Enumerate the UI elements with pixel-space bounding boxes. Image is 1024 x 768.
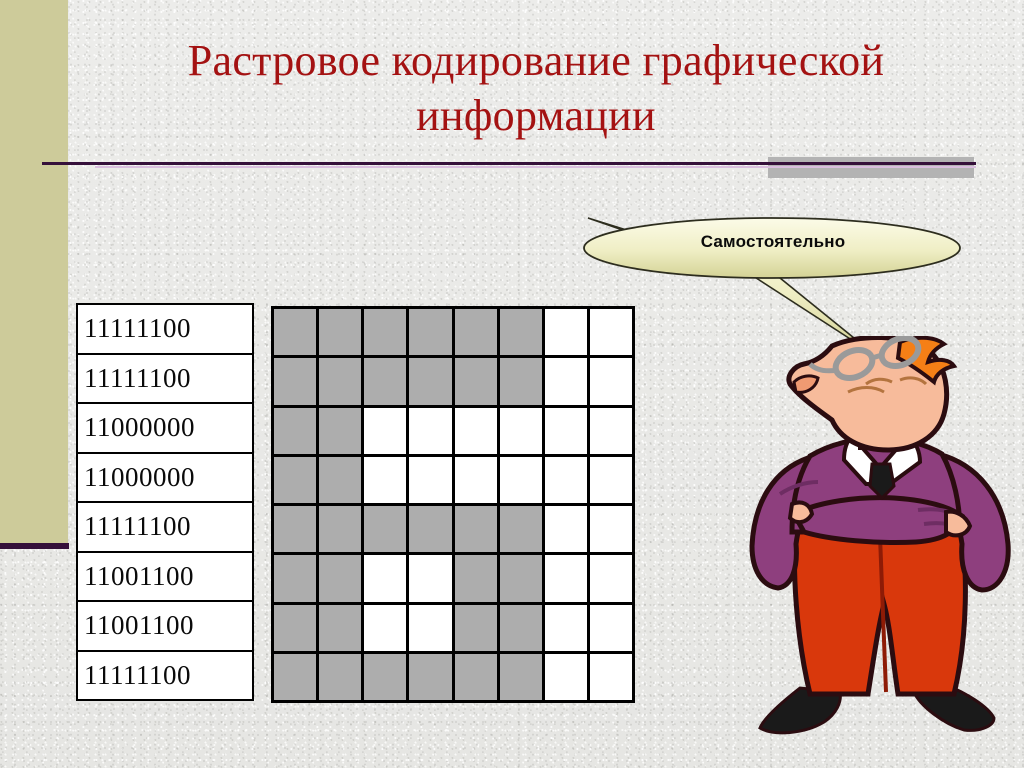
pixel-cell (590, 358, 632, 404)
table-row: 11000000 (78, 404, 252, 454)
pixel-cell (590, 605, 632, 651)
pixel-cell (500, 605, 542, 651)
crossed-arms (794, 498, 962, 543)
pixel-cell (319, 408, 361, 454)
pixel-cell (274, 555, 316, 601)
pixel-cell (274, 408, 316, 454)
binary-code-value: 11000000 (84, 412, 195, 443)
pixel-cell (545, 457, 587, 503)
pixel-cell (545, 358, 587, 404)
slide-canvas: Растровое кодирование графической информ… (0, 0, 1024, 768)
binary-code-value: 11111100 (84, 511, 191, 542)
pixel-cell (409, 555, 451, 601)
pixel-cell (409, 654, 451, 700)
table-row: 11001100 (78, 602, 252, 652)
pixel-cell (455, 309, 497, 355)
title-divider-rule (42, 162, 976, 165)
left-accent-band (0, 0, 68, 543)
table-row: 11111100 (78, 503, 252, 553)
pixel-cell (319, 309, 361, 355)
pixel-cell (545, 605, 587, 651)
pixel-cell (500, 358, 542, 404)
binary-code-value: 11000000 (84, 462, 195, 493)
binary-code-value: 11111100 (84, 313, 191, 344)
pixel-cell (500, 506, 542, 552)
binary-code-value: 11111100 (84, 363, 191, 394)
pixel-cell (500, 309, 542, 355)
pixel-cell (455, 555, 497, 601)
pixel-cell (274, 605, 316, 651)
pixel-cell (274, 358, 316, 404)
pixel-cell (274, 457, 316, 503)
pixel-cell (319, 654, 361, 700)
pixel-cell (364, 555, 406, 601)
title-divider-rule-light (95, 166, 976, 168)
balloon-label: Самостоятельно (588, 232, 958, 252)
pixel-cell (319, 605, 361, 651)
pixel-cell (590, 457, 632, 503)
pixel-cell (409, 358, 451, 404)
pixel-cell (364, 506, 406, 552)
pixel-cell (545, 506, 587, 552)
shoes (760, 686, 994, 733)
pixel-cell (409, 309, 451, 355)
pixel-cell (590, 555, 632, 601)
cartoon-teacher-illustration (748, 336, 1016, 750)
pixel-cell (590, 309, 632, 355)
page-title: Растровое кодирование графической информ… (96, 34, 976, 143)
pixel-cell (455, 358, 497, 404)
pixel-cell (364, 457, 406, 503)
binary-code-value: 11001100 (84, 561, 194, 592)
pixel-cell (364, 605, 406, 651)
pixel-cell (545, 555, 587, 601)
pixel-cell (500, 654, 542, 700)
pixel-cell (364, 358, 406, 404)
table-row: 11111100 (78, 305, 252, 355)
binary-code-value: 11111100 (84, 660, 191, 691)
pixel-cell (319, 457, 361, 503)
pixel-cell (545, 408, 587, 454)
table-row: 11000000 (78, 454, 252, 504)
pixel-cell (364, 309, 406, 355)
pixel-cell (409, 457, 451, 503)
pixel-cell (274, 654, 316, 700)
pixel-cell (455, 457, 497, 503)
pixel-cell (500, 408, 542, 454)
pixel-cell (590, 506, 632, 552)
pixel-cell (455, 506, 497, 552)
hand-left (790, 502, 812, 522)
left-accent-rule (0, 543, 69, 549)
table-row: 11111100 (78, 355, 252, 405)
pixel-cell (455, 408, 497, 454)
pixel-cell (590, 408, 632, 454)
pixel-grid (271, 306, 635, 703)
pixel-cell (319, 358, 361, 404)
table-row: 11111100 (78, 652, 252, 700)
pixel-cell (500, 457, 542, 503)
cartoon-teacher-svg (748, 336, 1016, 750)
pixel-cell (274, 506, 316, 552)
pixel-cell (319, 506, 361, 552)
pixel-cell (545, 309, 587, 355)
pixel-cell (409, 506, 451, 552)
pixel-cell (455, 605, 497, 651)
pixel-cell (409, 408, 451, 454)
table-row: 11001100 (78, 553, 252, 603)
pixel-cell (364, 408, 406, 454)
pixel-cell (545, 654, 587, 700)
binary-code-table: 1111110011111100110000001100000011111100… (76, 303, 254, 701)
pixel-cell (455, 654, 497, 700)
pixel-cell (590, 654, 632, 700)
binary-code-value: 11001100 (84, 610, 194, 641)
pixel-cell (364, 654, 406, 700)
pixel-cell (500, 555, 542, 601)
pixel-cell (274, 309, 316, 355)
pixel-cell (319, 555, 361, 601)
pixel-cell (409, 605, 451, 651)
